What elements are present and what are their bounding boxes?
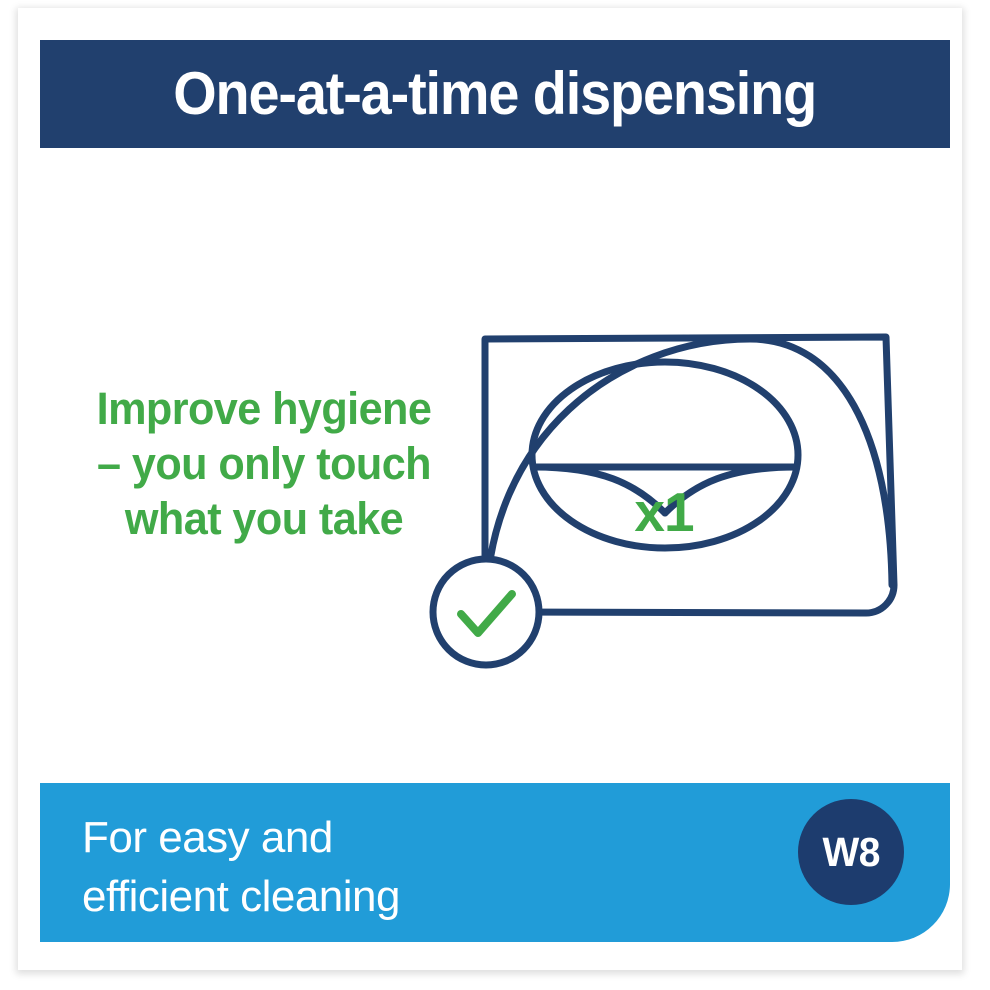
benefit-message: Improve hygiene – you only touch what yo… bbox=[74, 382, 454, 547]
footer-tagline: For easy and efficient cleaning bbox=[82, 809, 400, 926]
footer-band: For easy and efficient cleaning W8 bbox=[40, 783, 950, 942]
product-feature-poster: One-at-a-time dispensing Improve hygiene… bbox=[0, 0, 990, 990]
benefit-message-line-1: Improve hygiene bbox=[74, 382, 454, 437]
dispenser-opening-ellipse bbox=[532, 362, 798, 548]
check-badge-circle bbox=[433, 559, 539, 665]
status-badge: W8 bbox=[798, 799, 904, 905]
dispenser-drawing bbox=[420, 315, 940, 685]
header-band: One-at-a-time dispensing bbox=[40, 40, 950, 148]
wipes-dispenser-illustration: x1 bbox=[420, 315, 940, 685]
footer-tagline-line-1: For easy and bbox=[82, 809, 400, 868]
page-title: One-at-a-time dispensing bbox=[174, 64, 817, 124]
dispenser-arc bbox=[486, 339, 892, 612]
benefit-message-line-3: what you take bbox=[74, 492, 454, 547]
status-badge-label: W8 bbox=[822, 832, 879, 873]
benefit-message-line-2: – you only touch bbox=[74, 437, 454, 492]
footer-tagline-line-2: efficient cleaning bbox=[82, 868, 400, 927]
